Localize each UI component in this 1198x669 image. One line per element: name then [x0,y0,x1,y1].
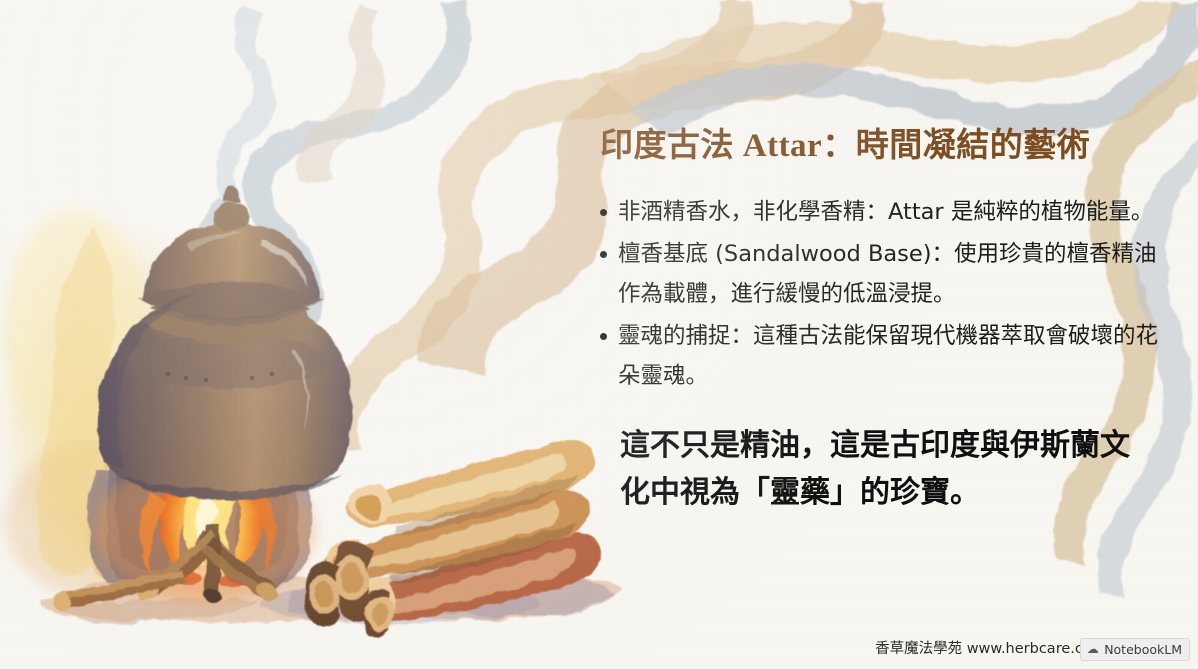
notebooklm-label: NotebookLM [1104,642,1182,657]
conclusion-statement: 這不只是精油，這是古印度與伊斯蘭文化中視為「靈藥」的珍寶。 [620,422,1140,516]
list-item: 檀香基底 (Sandalwood Base)：使用珍貴的檀香精油作為載體，進行緩… [592,234,1158,314]
bullet-dot-icon [600,251,607,258]
footer: 香草魔法學苑 www.herbcare.com.tw 版權所有 ☁ Notebo… [875,637,1190,661]
list-item-text: 檀香基底 (Sandalwood Base)：使用珍貴的檀香精油作為載體，進行緩… [618,241,1157,307]
list-item-text: 靈魂的捕捉：這種古法能保留現代機器萃取會破壞的花朵靈魂。 [618,323,1158,389]
list-item: 靈魂的捕捉：這種古法能保留現代機器萃取會破壞的花朵靈魂。 [592,316,1158,396]
list-item-text: 非酒精香水，非化學香精：Attar 是純粹的植物能量。 [618,199,1153,225]
bullet-list: 非酒精香水，非化學香精：Attar 是純粹的植物能量。 檀香基底 (Sandal… [592,192,1164,396]
bullet-dot-icon [600,209,607,216]
notebooklm-icon: ☁ [1086,643,1099,656]
slide-canvas: 印度古法 Attar：時間凝結的藝術 非酒精香水，非化學香精：Attar 是純粹… [0,0,1198,669]
page-title: 印度古法 Attar：時間凝結的藝術 [600,118,1164,166]
notebooklm-badge: ☁ NotebookLM [1080,638,1190,661]
list-item: 非酒精香水，非化學香精：Attar 是純粹的植物能量。 [592,192,1158,232]
text-column: 印度古法 Attar：時間凝結的藝術 非酒精香水，非化學香精：Attar 是純粹… [592,118,1164,516]
bullet-dot-icon [600,333,607,340]
